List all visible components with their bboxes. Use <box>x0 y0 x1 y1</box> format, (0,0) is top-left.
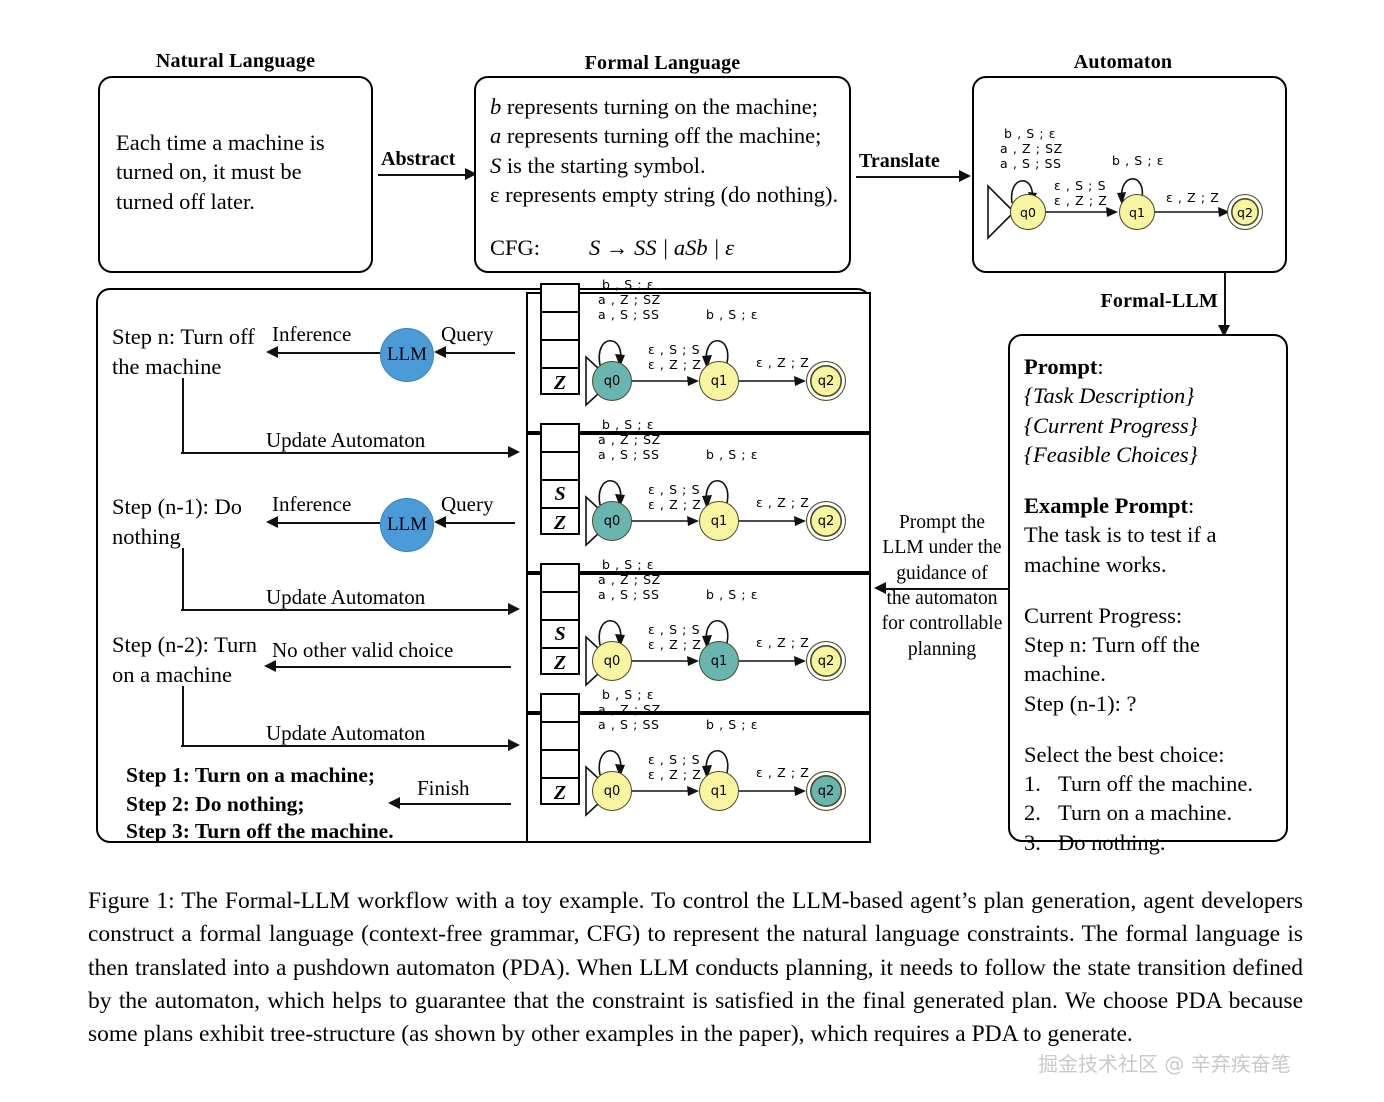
choice-item-0: 1. Turn off the machine. <box>1024 769 1279 798</box>
choice-text: Turn on a machine. <box>1058 798 1232 827</box>
pda-q0-loop-label-2: a , S ; SS <box>598 447 660 462</box>
update-automaton-vline-0 <box>182 378 184 453</box>
prompt-title-text: Prompt <box>1024 354 1097 379</box>
formal-llm-label: Formal-LLM <box>1088 290 1218 313</box>
automaton-diagram: b , S ; ε a , Z ; SZ a , S ; SS b , S ; … <box>974 78 1289 275</box>
pda-state-q2: q2 <box>806 501 846 541</box>
no-other-valid-choice-head <box>264 660 276 672</box>
pda-state-q1: q1 <box>699 641 739 681</box>
fl-line-3: ε represents empty string (do nothing). <box>490 180 842 209</box>
automaton-edges-svg <box>974 78 1289 275</box>
choice-text: Turn off the machine. <box>1058 769 1253 798</box>
workflow-step-2-line1: Step (n-2): Turn <box>112 630 257 659</box>
state-label: q0 <box>604 654 621 669</box>
query-label-0: Query <box>441 322 493 347</box>
pda-state-q1: q1 <box>699 771 739 811</box>
choice-number: 3. <box>1024 828 1058 857</box>
natural-language-header: Natural Language <box>98 50 373 73</box>
update-automaton-label-2: Update Automaton <box>266 721 425 746</box>
inference-arrow-line-1 <box>272 522 380 524</box>
pda-state-q2: q2 <box>806 361 846 401</box>
pda-q0-loop-label-1: a , Z ; SZ <box>598 572 661 587</box>
state-label: q2 <box>818 374 835 389</box>
natural-language-text: Each time a machine is turned on, it mus… <box>116 128 364 216</box>
pda-edge-q0q1-label-1: ε , Z ; Z <box>648 357 701 372</box>
state-label: q2 <box>818 654 835 669</box>
finish-arrow-head <box>388 797 400 809</box>
pda-q1-loop-label-0: b , S ; ε <box>706 587 758 602</box>
update-automaton-vline-2 <box>182 686 184 746</box>
current-progress-title: Current Progress: <box>1024 601 1279 630</box>
state-label: q0 <box>604 784 621 799</box>
pda-q0-loop-label-0: b , S ; ε <box>602 417 654 432</box>
prompt-side-line-0: Prompt the <box>878 510 1006 535</box>
state-label: q2 <box>818 514 835 529</box>
translate-arrow-head <box>959 170 971 182</box>
query-arrow-line-1 <box>443 522 515 524</box>
formal-language-box: b represents turning on the machine; a r… <box>474 76 851 273</box>
final-plan-line-1: Step 2: Do nothing; <box>126 791 305 819</box>
update-automaton-arrow-head-1 <box>508 603 520 615</box>
pda-state-q0: q0 <box>592 361 632 401</box>
pda-q0-loop-label-2: a , S ; SS <box>598 307 660 322</box>
automaton-state-q2: q2 <box>1227 194 1263 230</box>
cfg-rule: S → SS | aSb | ε <box>589 233 734 262</box>
pda-diagram-1: SZb , S ; εa , Z ; SZa , S ; SSb , S ; ε… <box>526 433 871 573</box>
state-label: q0 <box>604 514 621 529</box>
pda-state-q2: q2 <box>806 771 846 811</box>
fl-line-1: a represents turning off the machine; <box>490 121 842 150</box>
natural-language-box: Each time a machine is turned on, it mus… <box>98 76 373 273</box>
pda-q1-loop-label-0: b , S ; ε <box>706 447 758 462</box>
pda-edge-q1q2-label-0: ε , Z ; Z <box>756 495 809 510</box>
no-other-valid-choice-line <box>272 666 511 668</box>
choice-item-1: 2. Turn on a machine. <box>1024 798 1279 827</box>
figure-caption: Figure 1: The Formal-LLM workflow with a… <box>88 885 1303 1052</box>
formal-llm-arrow-line <box>1224 273 1226 329</box>
example-prompt-title: Example Prompt: <box>1024 491 1279 520</box>
current-progress-line-1: Step (n-1): ? <box>1024 689 1279 718</box>
llm-node-1: LLM <box>380 498 434 552</box>
pda-q0-loop-label-1: a , Z ; SZ <box>598 432 661 447</box>
pda-edge-q0q1-label-1: ε , Z ; Z <box>648 637 701 652</box>
workflow-step-2-line2: on a machine <box>112 660 232 689</box>
pda-state-q1: q1 <box>699 361 739 401</box>
prompt-slot-0: {Task Description} <box>1024 381 1279 410</box>
pda-q0-loop-label-2: a , S ; SS <box>598 717 660 732</box>
automaton-box: b , S ; ε a , Z ; SZ a , S ; SS b , S ; … <box>972 76 1287 273</box>
pda-edge-q0q1-label-0: ε , S ; S <box>648 752 700 767</box>
query-arrow-head-1 <box>434 516 446 528</box>
choice-text: Do nothing. <box>1058 828 1166 857</box>
state-label: q1 <box>1129 205 1145 220</box>
query-label-1: Query <box>441 492 493 517</box>
fl-line-2: S is the starting symbol. <box>490 151 842 180</box>
pda-q1-loop-label-0: b , S ; ε <box>706 307 758 322</box>
state-label: q0 <box>604 374 621 389</box>
translate-arrow-line <box>856 176 962 178</box>
prompt-title: Prompt: <box>1024 352 1279 381</box>
final-plan-line-0: Step 1: Turn on a machine; <box>126 762 375 790</box>
fl-line-0: b represents turning on the machine; <box>490 92 842 121</box>
update-automaton-arrow-head-2 <box>508 739 520 751</box>
pda-state-q0: q0 <box>592 501 632 541</box>
automaton-state-q1: q1 <box>1119 194 1155 230</box>
query-arrow-head-0 <box>434 346 446 358</box>
inference-label-0: Inference <box>272 322 351 347</box>
example-title-text: Example Prompt <box>1024 493 1188 518</box>
state-label: q1 <box>711 514 728 529</box>
formal-language-header: Formal Language <box>475 52 850 75</box>
choice-item-2: 3. Do nothing. <box>1024 828 1279 857</box>
final-plan-line-2: Step 3: Turn off the machine. <box>126 818 394 846</box>
pda-diagram-0: Zb , S ; εa , Z ; SZa , S ; SSb , S ; εε… <box>526 292 871 433</box>
select-best-choice-title: Select the best choice: <box>1024 740 1279 769</box>
example-task-line-0: The task is to test if a <box>1024 520 1279 549</box>
prompt-colon: : <box>1097 354 1103 379</box>
state-label: q1 <box>711 374 728 389</box>
pda-edge-q0q1-label-0: ε , S ; S <box>648 342 700 357</box>
pda-diagram-2: SZb , S ; εa , Z ; SZa , S ; SSb , S ; ε… <box>526 573 871 713</box>
pda-state-q0: q0 <box>592 641 632 681</box>
query-arrow-line-0 <box>443 352 515 354</box>
figure-root: Natural Language Formal Language Automat… <box>0 0 1384 1102</box>
pda-q0-loop-label-2: a , S ; SS <box>598 587 660 602</box>
choice-number: 1. <box>1024 769 1058 798</box>
finish-arrow-line <box>396 803 511 805</box>
pda-q0-loop-label-0: b , S ; ε <box>602 687 654 702</box>
prompt-side-arrow-line <box>882 588 1010 590</box>
workflow-step-1-line1: Step (n-1): Do <box>112 492 242 521</box>
abstract-label: Abstract <box>381 148 455 171</box>
state-label: q0 <box>1020 205 1036 220</box>
state-label: q2 <box>1237 205 1253 220</box>
prompt-slot-1: {Current Progress} <box>1024 411 1279 440</box>
prompt-side-line-2: guidance of <box>878 561 1006 586</box>
pda-edge-q1q2-label-0: ε , Z ; Z <box>756 765 809 780</box>
llm-node-0: LLM <box>380 328 434 382</box>
pda-state-q0: q0 <box>592 771 632 811</box>
pda-state-q1: q1 <box>699 501 739 541</box>
formal-llm-box: Prompt: {Task Description} {Current Prog… <box>1008 334 1288 842</box>
pda-edge-q0q1-label-1: ε , Z ; Z <box>648 497 701 512</box>
pda-state-q2: q2 <box>806 641 846 681</box>
pda-edge-q1q2-label-0: ε , Z ; Z <box>756 635 809 650</box>
pda-edge-q0q1-label-0: ε , S ; S <box>648 482 700 497</box>
inference-arrow-line-0 <box>272 352 380 354</box>
prompt-side-line-4: for controllable <box>878 611 1006 636</box>
example-task-line-1: machine works. <box>1024 550 1279 579</box>
automaton-header: Automaton <box>978 51 1268 74</box>
update-automaton-label-0: Update Automaton <box>266 428 425 453</box>
state-label: q1 <box>711 654 728 669</box>
inference-arrow-head-1 <box>266 516 278 528</box>
pda-edge-q1q2-label-0: ε , Z ; Z <box>756 355 809 370</box>
llm-label: LLM <box>387 514 427 536</box>
watermark: 掘金技术社区 @ 辛弃疾奋笔 <box>1038 1048 1291 1077</box>
finish-label: Finish <box>417 776 470 801</box>
cfg-label: CFG: <box>490 233 540 262</box>
update-automaton-label-1: Update Automaton <box>266 585 425 610</box>
no-other-valid-choice-label: No other valid choice <box>272 638 453 663</box>
pda-edge-q0q1-label-0: ε , S ; S <box>648 622 700 637</box>
prompt-side-text: Prompt the LLM under the guidance of the… <box>878 510 1006 662</box>
pda-q0-loop-label-0: b , S ; ε <box>602 277 654 292</box>
translate-label: Translate <box>859 150 940 173</box>
inference-arrow-head-0 <box>266 346 278 358</box>
prompt-side-line-1: LLM under the <box>878 535 1006 560</box>
workflow-step-0-line2: the machine <box>112 352 221 381</box>
workflow-step-1-line2: nothing <box>112 522 181 551</box>
abstract-arrow-line <box>378 174 468 176</box>
update-automaton-arrow-head-0 <box>508 446 520 458</box>
inference-label-1: Inference <box>272 492 351 517</box>
pda-q1-loop-label-0: b , S ; ε <box>706 717 758 732</box>
state-label: q1 <box>711 784 728 799</box>
workflow-step-0-line1: Step n: Turn off <box>112 322 255 351</box>
pda-q0-loop-label-0: b , S ; ε <box>602 557 654 572</box>
prompt-slot-2: {Feasible Choices} <box>1024 440 1279 469</box>
pda-q0-loop-label-1: a , Z ; SZ <box>598 292 661 307</box>
pda-edge-q0q1-label-1: ε , Z ; Z <box>648 767 701 782</box>
prompt-side-arrow-head <box>874 582 886 594</box>
prompt-side-line-5: planning <box>878 637 1006 662</box>
update-automaton-vline-1 <box>182 548 184 610</box>
choice-number: 2. <box>1024 798 1058 827</box>
pda-diagram-3: Zb , S ; εa , Z ; SZa , S ; SSb , S ; εε… <box>526 713 871 843</box>
state-label: q2 <box>818 784 835 799</box>
llm-label: LLM <box>387 344 427 366</box>
current-progress-line-0: Step n: Turn off the machine. <box>1024 630 1279 689</box>
automaton-state-q0: q0 <box>1010 194 1046 230</box>
example-colon: : <box>1188 493 1194 518</box>
pda-q0-loop-label-1: a , Z ; SZ <box>598 702 661 717</box>
